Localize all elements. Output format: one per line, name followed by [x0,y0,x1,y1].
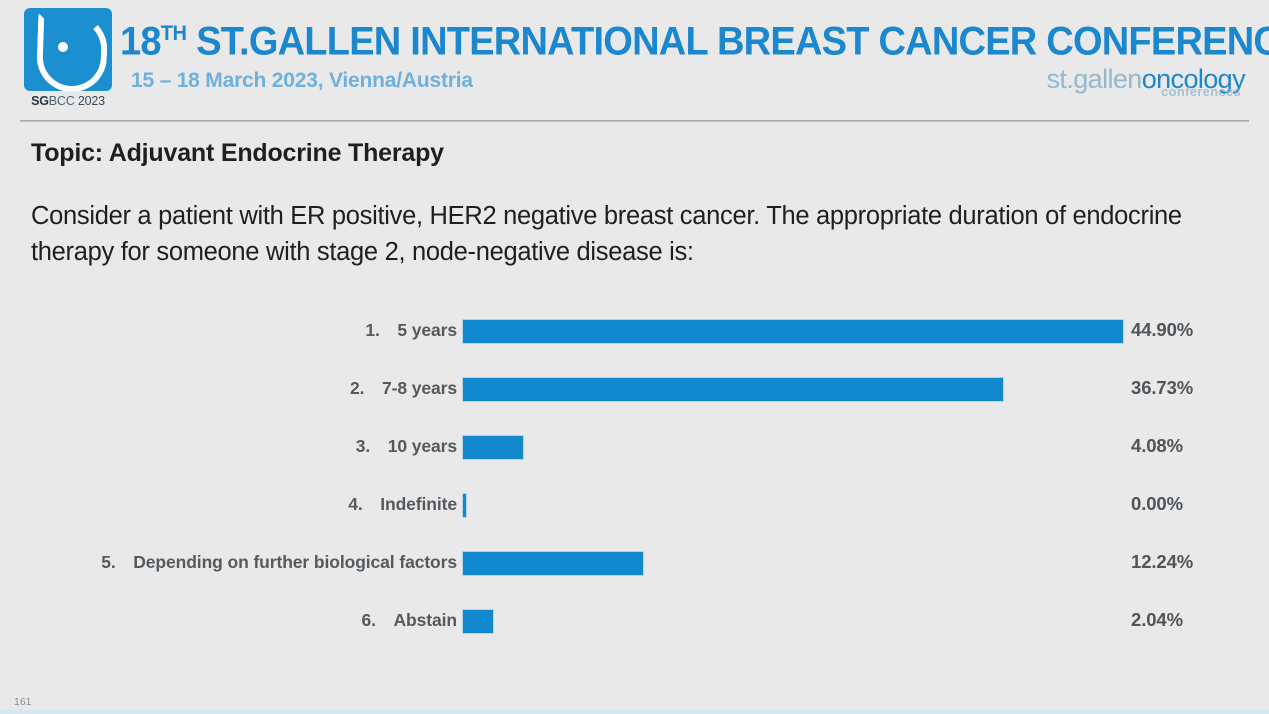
conference-title-text: ST.GALLEN INTERNATIONAL BREAST CANCER CO… [186,19,1269,63]
chart-row-category: Abstain [394,610,457,630]
chart-row-label: 3.10 years [356,436,457,457]
conference-dates-location: 15 – 18 March 2023, Vienna/Austria [131,69,473,93]
logo-caption: SGBCC 2023 [20,94,116,108]
header-divider [20,120,1249,122]
chart-bar-track [463,552,643,575]
chart-row-label: 4.Indefinite [348,494,457,515]
nipple-dot-icon [58,42,68,52]
chart-row-number: 4. [348,494,370,515]
sgbcc-logo: SGBCC 2023 [20,8,116,108]
chart-bar-track [463,378,1003,401]
chart-row: 6.Abstain 2.04% [0,596,1269,654]
chart-bar-track [463,610,493,633]
chart-bar [463,610,493,633]
chart-bar [463,552,643,575]
chart-row-number: 2. [350,378,372,399]
sgbcc-logo-icon [24,8,112,91]
chart-bar [463,494,466,517]
chart-row-category: Indefinite [380,494,457,514]
chart-row-category: 5 years [397,320,457,340]
chart-row-value: 36.73% [1131,377,1193,399]
chart-row-category: 10 years [388,436,457,456]
chart-bar-track [463,320,1123,343]
brand-gallen: gallen [1073,64,1141,94]
conference-header: SGBCC 2023 18TH ST.GALLEN INTERNATIONAL … [0,0,1269,120]
chart-row-number: 5. [101,552,123,573]
topic-heading: Topic: Adjuvant Endocrine Therapy [31,139,444,168]
question-text: Consider a patient with ER positive, HER… [31,198,1221,270]
poll-results-chart: 1.5 years 44.90% 2.7-8 years 36.73% 3.10… [0,306,1269,654]
chart-row: 1.5 years 44.90% [0,306,1269,364]
chart-row-label: 5.Depending on further biological factor… [101,552,457,573]
chart-bar [463,436,523,459]
chart-bar [463,320,1123,343]
chart-row-category: 7-8 years [382,378,457,398]
conference-title-number: 18 [120,19,161,63]
slide: SGBCC 2023 18TH ST.GALLEN INTERNATIONAL … [0,0,1269,714]
brand-st: st [1047,64,1067,94]
chart-row: 5.Depending on further biological factor… [0,538,1269,596]
chart-row-label: 2.7-8 years [350,378,457,399]
conference-title: 18TH ST.GALLEN INTERNATIONAL BREAST CANC… [120,12,1269,63]
logo-caption-bcc: BCC [49,94,75,108]
chart-bar [463,378,1003,401]
chart-row-value: 12.24% [1131,551,1193,573]
chart-row-number: 6. [362,610,384,631]
chart-row-category: Depending on further biological factors [133,552,457,572]
chart-row-value: 44.90% [1131,319,1193,341]
breast-outline-icon [36,13,109,91]
chart-row: 4.Indefinite 0.00% [0,480,1269,538]
chart-row-value: 0.00% [1131,493,1183,515]
chart-row-number: 3. [356,436,378,457]
chart-row-label: 6.Abstain [362,610,457,631]
conference-title-ordinal: TH [161,22,187,45]
chart-bar-track [463,436,523,459]
chart-row: 3.10 years 4.08% [0,422,1269,480]
bottom-accent-strip [0,710,1269,714]
chart-row-value: 2.04% [1131,609,1183,631]
chart-row-value: 4.08% [1131,435,1183,457]
chart-row-number: 1. [365,320,387,341]
chart-row: 2.7-8 years 36.73% [0,364,1269,422]
logo-caption-sg: SG [31,94,49,108]
chart-row-label: 1.5 years [365,320,457,341]
chart-bar-track [463,494,466,517]
page-number: 161 [14,696,32,708]
logo-caption-year: 2023 [75,94,105,108]
brand-conferences: conferences [1161,84,1241,99]
